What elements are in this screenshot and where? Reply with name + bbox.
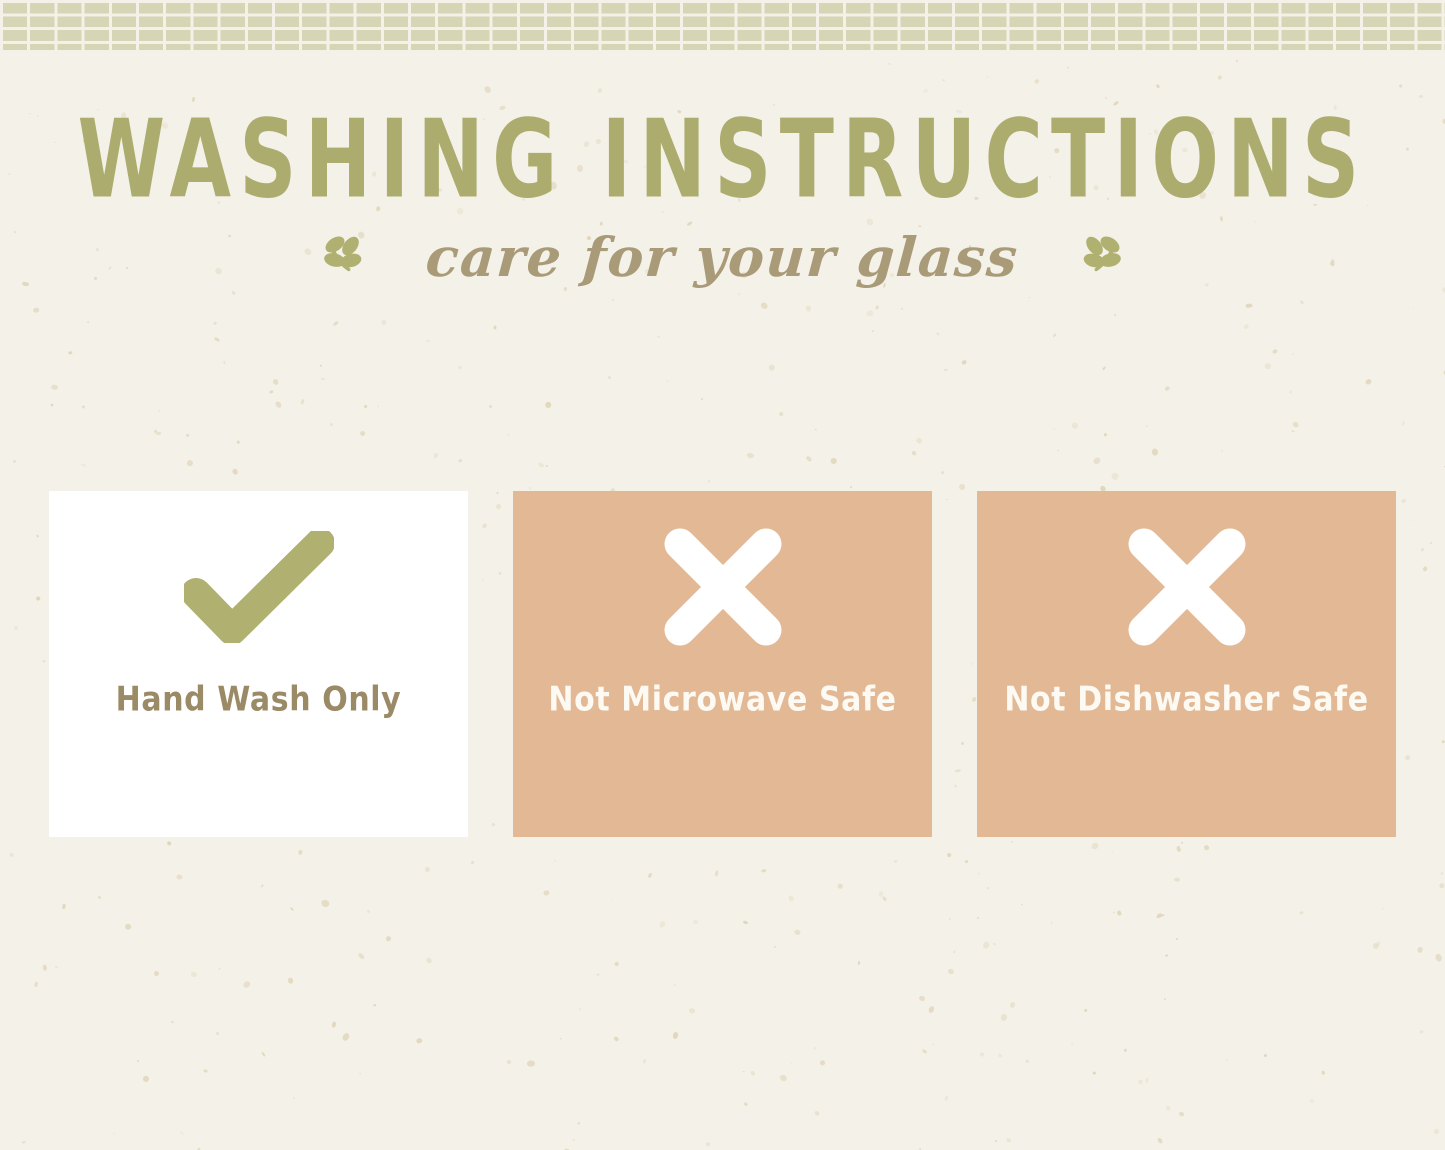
texture-speck — [1102, 366, 1106, 371]
texture-speck — [779, 412, 784, 417]
texture-speck — [341, 1032, 350, 1042]
texture-speck — [872, 330, 874, 332]
texture-speck — [995, 1140, 997, 1142]
texture-speck — [1178, 1111, 1184, 1117]
texture-speck — [738, 293, 741, 296]
texture-speck — [1165, 1105, 1170, 1111]
texture-speck — [488, 405, 492, 409]
texture-speck — [743, 1071, 745, 1073]
texture-speck — [10, 852, 14, 857]
texture-speck — [878, 890, 884, 897]
texture-speck — [68, 351, 72, 355]
texture-speck — [947, 968, 954, 975]
texture-speck — [1011, 841, 1013, 843]
header: WASHING INSTRUCTIONS care for your glass — [0, 0, 1445, 288]
texture-speck — [153, 970, 160, 977]
texture-speck — [124, 922, 132, 930]
texture-speck — [14, 626, 19, 630]
texture-speck — [1175, 938, 1177, 940]
texture-speck — [1299, 911, 1303, 915]
card-label: Not Microwave Safe — [548, 681, 896, 720]
texture-speck — [329, 423, 332, 426]
texture-speck — [377, 406, 379, 408]
texture-speck — [221, 408, 223, 410]
leaf-sprig-icon — [1071, 227, 1127, 288]
texture-speck — [667, 381, 668, 382]
texture-speck — [320, 898, 330, 908]
texture-speck — [1111, 472, 1120, 481]
texture-speck — [1410, 520, 1411, 522]
texture-speck — [1029, 297, 1031, 299]
texture-speck — [543, 890, 550, 896]
texture-speck — [881, 896, 886, 902]
page-title: WASHING INSTRUCTIONS — [58, 108, 1387, 211]
texture-speck — [964, 860, 968, 864]
texture-speck — [333, 320, 339, 326]
texture-speck — [1442, 740, 1445, 743]
texture-speck — [707, 480, 710, 483]
texture-speck — [1165, 955, 1169, 958]
texture-speck — [611, 900, 613, 901]
texture-speck — [674, 984, 676, 986]
texture-speck — [805, 306, 812, 313]
cross-icon — [977, 491, 1396, 683]
texture-speck — [787, 895, 795, 903]
texture-speck — [812, 1046, 816, 1050]
texture-speck — [1146, 1078, 1149, 1083]
texture-speck — [1053, 333, 1057, 337]
texture-speck — [216, 1032, 219, 1035]
texture-speck — [203, 1068, 208, 1072]
texture-speck — [857, 961, 860, 965]
texture-speck — [385, 935, 392, 942]
texture-speck — [1151, 449, 1158, 457]
texture-speck — [416, 1038, 422, 1044]
texture-speck — [300, 398, 305, 404]
texture-speck — [1422, 566, 1427, 572]
texture-speck — [1290, 390, 1292, 393]
texture-speck — [186, 459, 194, 467]
texture-speck — [425, 956, 433, 964]
instruction-cards: Hand Wash Only Not Microwave Safe Not Di… — [49, 491, 1396, 837]
texture-speck — [1435, 953, 1443, 962]
texture-speck — [750, 1070, 756, 1076]
texture-speck — [142, 1074, 150, 1082]
texture-speck — [648, 873, 652, 878]
texture-speck — [608, 375, 612, 379]
texture-speck — [546, 465, 548, 467]
texture-speck — [1404, 754, 1411, 760]
texture-speck — [659, 920, 667, 928]
texture-speck — [911, 450, 917, 456]
texture-speck — [1291, 420, 1299, 428]
texture-speck — [791, 1063, 792, 1065]
cross-icon — [513, 491, 932, 683]
texture-speck — [35, 596, 40, 601]
texture-speck — [936, 332, 941, 336]
texture-speck — [1057, 450, 1059, 451]
texture-speck — [363, 405, 367, 409]
card-label: Hand Wash Only — [116, 681, 402, 720]
texture-speck — [242, 980, 251, 989]
texture-speck — [1373, 943, 1380, 950]
texture-speck — [945, 1095, 949, 1101]
texture-speck — [1440, 871, 1444, 875]
texture-speck — [576, 1122, 580, 1125]
texture-speck — [1001, 1013, 1009, 1021]
texture-speck — [573, 1138, 575, 1140]
texture-speck — [715, 870, 719, 876]
check-icon — [49, 491, 468, 683]
texture-speck — [614, 1036, 620, 1042]
texture-speck — [1438, 881, 1445, 888]
texture-speck — [1434, 1129, 1439, 1134]
texture-speck — [287, 977, 293, 984]
texture-speck — [292, 1097, 294, 1099]
texture-speck — [35, 982, 39, 987]
texture-speck — [43, 964, 47, 971]
texture-speck — [760, 301, 770, 310]
texture-speck — [978, 872, 980, 874]
texture-speck — [171, 1020, 175, 1023]
texture-speck — [358, 952, 365, 959]
texture-speck — [1364, 378, 1372, 386]
texture-speck — [527, 1060, 535, 1067]
texture-speck — [231, 291, 236, 296]
texture-speck — [320, 378, 324, 381]
texture-speck — [692, 919, 699, 925]
texture-speck — [928, 1005, 935, 1013]
texture-speck — [1113, 851, 1114, 852]
texture-speck — [1221, 450, 1223, 452]
texture-speck — [137, 1060, 140, 1062]
texture-speck — [949, 918, 951, 920]
texture-speck — [875, 305, 878, 309]
texture-speck — [1300, 300, 1305, 305]
texture-speck — [643, 1059, 647, 1063]
texture-speck — [154, 429, 157, 432]
texture-speck — [433, 452, 438, 458]
texture-speck — [987, 887, 989, 889]
texture-speck — [554, 859, 556, 861]
texture-speck — [528, 487, 531, 490]
texture-speck — [544, 401, 552, 409]
texture-speck — [742, 1101, 747, 1106]
texture-speck — [1053, 428, 1055, 430]
texture-speck — [615, 962, 619, 966]
texture-speck — [578, 1007, 581, 1010]
texture-speck — [774, 946, 776, 948]
texture-speck — [43, 659, 46, 662]
texture-speck — [979, 1052, 984, 1057]
texture-speck — [932, 1043, 934, 1045]
texture-speck — [1117, 910, 1122, 916]
texture-speck — [272, 378, 279, 386]
texture-speck — [961, 359, 968, 366]
texture-speck — [1164, 385, 1171, 391]
texture-speck — [672, 1032, 678, 1040]
texture-speck — [1347, 916, 1349, 918]
texture-speck — [298, 849, 304, 855]
texture-speck — [62, 904, 65, 909]
texture-speck — [470, 860, 474, 864]
texture-speck — [1310, 1098, 1315, 1103]
texture-speck — [1430, 542, 1433, 544]
texture-speck — [537, 462, 544, 469]
card-not-dishwasher-safe[interactable]: Not Dishwasher Safe — [977, 491, 1396, 837]
texture-speck — [958, 484, 965, 491]
texture-speck — [359, 1072, 362, 1075]
texture-speck — [213, 336, 220, 342]
texture-speck — [331, 1022, 336, 1029]
texture-speck — [1382, 907, 1384, 909]
texture-speck — [1243, 323, 1249, 329]
texture-speck — [290, 906, 294, 910]
texture-speck — [819, 1059, 826, 1066]
texture-speck — [1009, 1001, 1016, 1008]
texture-speck — [186, 433, 190, 437]
texture-speck — [158, 410, 160, 412]
texture-speck — [814, 1111, 820, 1117]
texture-speck — [1093, 456, 1102, 464]
texture-speck — [1091, 842, 1100, 851]
texture-speck — [154, 430, 160, 436]
texture-speck — [700, 398, 702, 400]
texture-speck — [560, 1037, 562, 1039]
texture-speck — [1265, 363, 1272, 369]
texture-speck — [261, 1052, 265, 1057]
texture-speck — [689, 1007, 696, 1013]
texture-speck — [1263, 1054, 1267, 1058]
texture-speck — [1292, 353, 1294, 355]
texture-speck — [704, 1141, 710, 1147]
texture-speck — [1071, 422, 1078, 429]
texture-speck — [1203, 845, 1209, 851]
texture-speck — [367, 909, 370, 913]
texture-speck — [1401, 498, 1407, 504]
texture-speck — [236, 440, 240, 444]
texture-speck — [1442, 288, 1445, 294]
texture-speck — [944, 368, 948, 371]
texture-speck — [1272, 348, 1278, 354]
texture-speck — [922, 1049, 928, 1055]
texture-speck — [1419, 1030, 1424, 1034]
texture-speck — [746, 452, 753, 458]
card-not-microwave-safe[interactable]: Not Microwave Safe — [513, 491, 932, 837]
texture-speck — [1416, 946, 1423, 953]
texture-speck — [901, 307, 904, 310]
card-label: Not Dishwasher Safe — [1004, 681, 1368, 720]
texture-speck — [190, 971, 196, 977]
texture-speck — [657, 335, 660, 338]
texture-speck — [1180, 841, 1183, 844]
texture-speck — [13, 460, 16, 463]
texture-speck — [1137, 1078, 1143, 1084]
texture-speck — [167, 841, 171, 845]
texture-speck — [55, 966, 58, 968]
card-hand-wash-only[interactable]: Hand Wash Only — [49, 491, 468, 837]
texture-speck — [997, 1053, 1002, 1058]
texture-speck — [1291, 430, 1294, 432]
texture-speck — [179, 1131, 183, 1135]
texture-speck — [1026, 1060, 1029, 1064]
texture-speck — [919, 996, 927, 1003]
texture-speck — [1124, 1048, 1127, 1051]
texture-speck — [51, 384, 58, 390]
texture-speck — [612, 299, 614, 301]
texture-speck — [1164, 997, 1166, 999]
texture-speck — [21, 1140, 25, 1143]
texture-speck — [33, 308, 39, 313]
texture-speck — [794, 929, 801, 936]
texture-speck — [493, 325, 496, 329]
leaf-sprig-icon — [318, 227, 374, 288]
texture-speck — [274, 400, 282, 408]
texture-speck — [1174, 878, 1180, 883]
texture-speck — [838, 883, 844, 889]
texture-speck — [1083, 1008, 1087, 1012]
texture-speck — [1246, 304, 1253, 309]
texture-speck — [425, 867, 430, 872]
texture-speck — [50, 403, 53, 406]
texture-speck — [1226, 1059, 1228, 1061]
texture-speck — [177, 874, 183, 879]
texture-speck — [1375, 941, 1382, 948]
texture-speck — [1051, 922, 1052, 924]
texture-speck — [915, 436, 923, 444]
texture-speck — [1021, 904, 1023, 906]
texture-speck — [946, 853, 951, 858]
texture-speck — [1401, 421, 1406, 426]
texture-speck — [1157, 1137, 1164, 1144]
texture-speck — [806, 456, 813, 463]
texture-speck — [768, 364, 776, 372]
texture-speck — [815, 428, 817, 430]
texture-speck — [761, 868, 767, 873]
texture-speck — [1413, 308, 1415, 310]
texture-speck — [1322, 1070, 1326, 1074]
texture-speck — [1093, 1071, 1097, 1075]
texture-speck — [380, 319, 387, 326]
texture-speck — [1146, 424, 1149, 427]
texture-speck — [112, 1133, 114, 1135]
texture-speck — [320, 365, 322, 367]
texture-speck — [976, 917, 979, 920]
texture-speck — [1113, 912, 1115, 914]
texture-speck — [1420, 547, 1424, 551]
texture-speck — [894, 859, 898, 863]
subtitle-row: care for your glass — [0, 226, 1445, 288]
texture-speck — [81, 462, 86, 466]
texture-speck — [507, 1060, 512, 1065]
texture-speck — [1176, 845, 1181, 851]
texture-speck — [426, 339, 430, 342]
texture-speck — [1114, 314, 1117, 317]
texture-speck — [223, 361, 226, 364]
texture-speck — [992, 942, 995, 945]
texture-speck — [953, 950, 956, 953]
texture-speck — [35, 534, 39, 538]
page-subtitle: care for your glass — [372, 226, 1073, 288]
texture-speck — [940, 471, 944, 475]
texture-speck — [596, 974, 599, 976]
texture-speck — [457, 459, 462, 464]
texture-speck — [213, 321, 217, 325]
texture-speck — [87, 320, 89, 322]
texture-speck — [1103, 432, 1107, 436]
texture-speck — [97, 895, 101, 899]
texture-speck — [742, 920, 748, 925]
texture-speck — [359, 431, 365, 437]
texture-speck — [849, 486, 851, 488]
texture-speck — [373, 1004, 377, 1007]
texture-speck — [508, 434, 510, 436]
texture-speck — [157, 432, 162, 436]
texture-speck — [778, 1076, 780, 1078]
texture-speck — [1071, 1042, 1073, 1044]
texture-speck — [231, 467, 239, 475]
texture-speck — [261, 885, 264, 888]
texture-speck — [270, 390, 274, 394]
texture-speck — [457, 366, 461, 370]
texture-speck — [1161, 913, 1165, 917]
texture-speck — [831, 457, 837, 463]
texture-speck — [1156, 913, 1163, 920]
texture-speck — [866, 309, 874, 316]
texture-speck — [218, 968, 221, 971]
texture-speck — [1006, 1137, 1012, 1143]
texture-speck — [81, 405, 85, 409]
texture-speck — [779, 1073, 788, 1082]
texture-speck — [983, 940, 991, 948]
